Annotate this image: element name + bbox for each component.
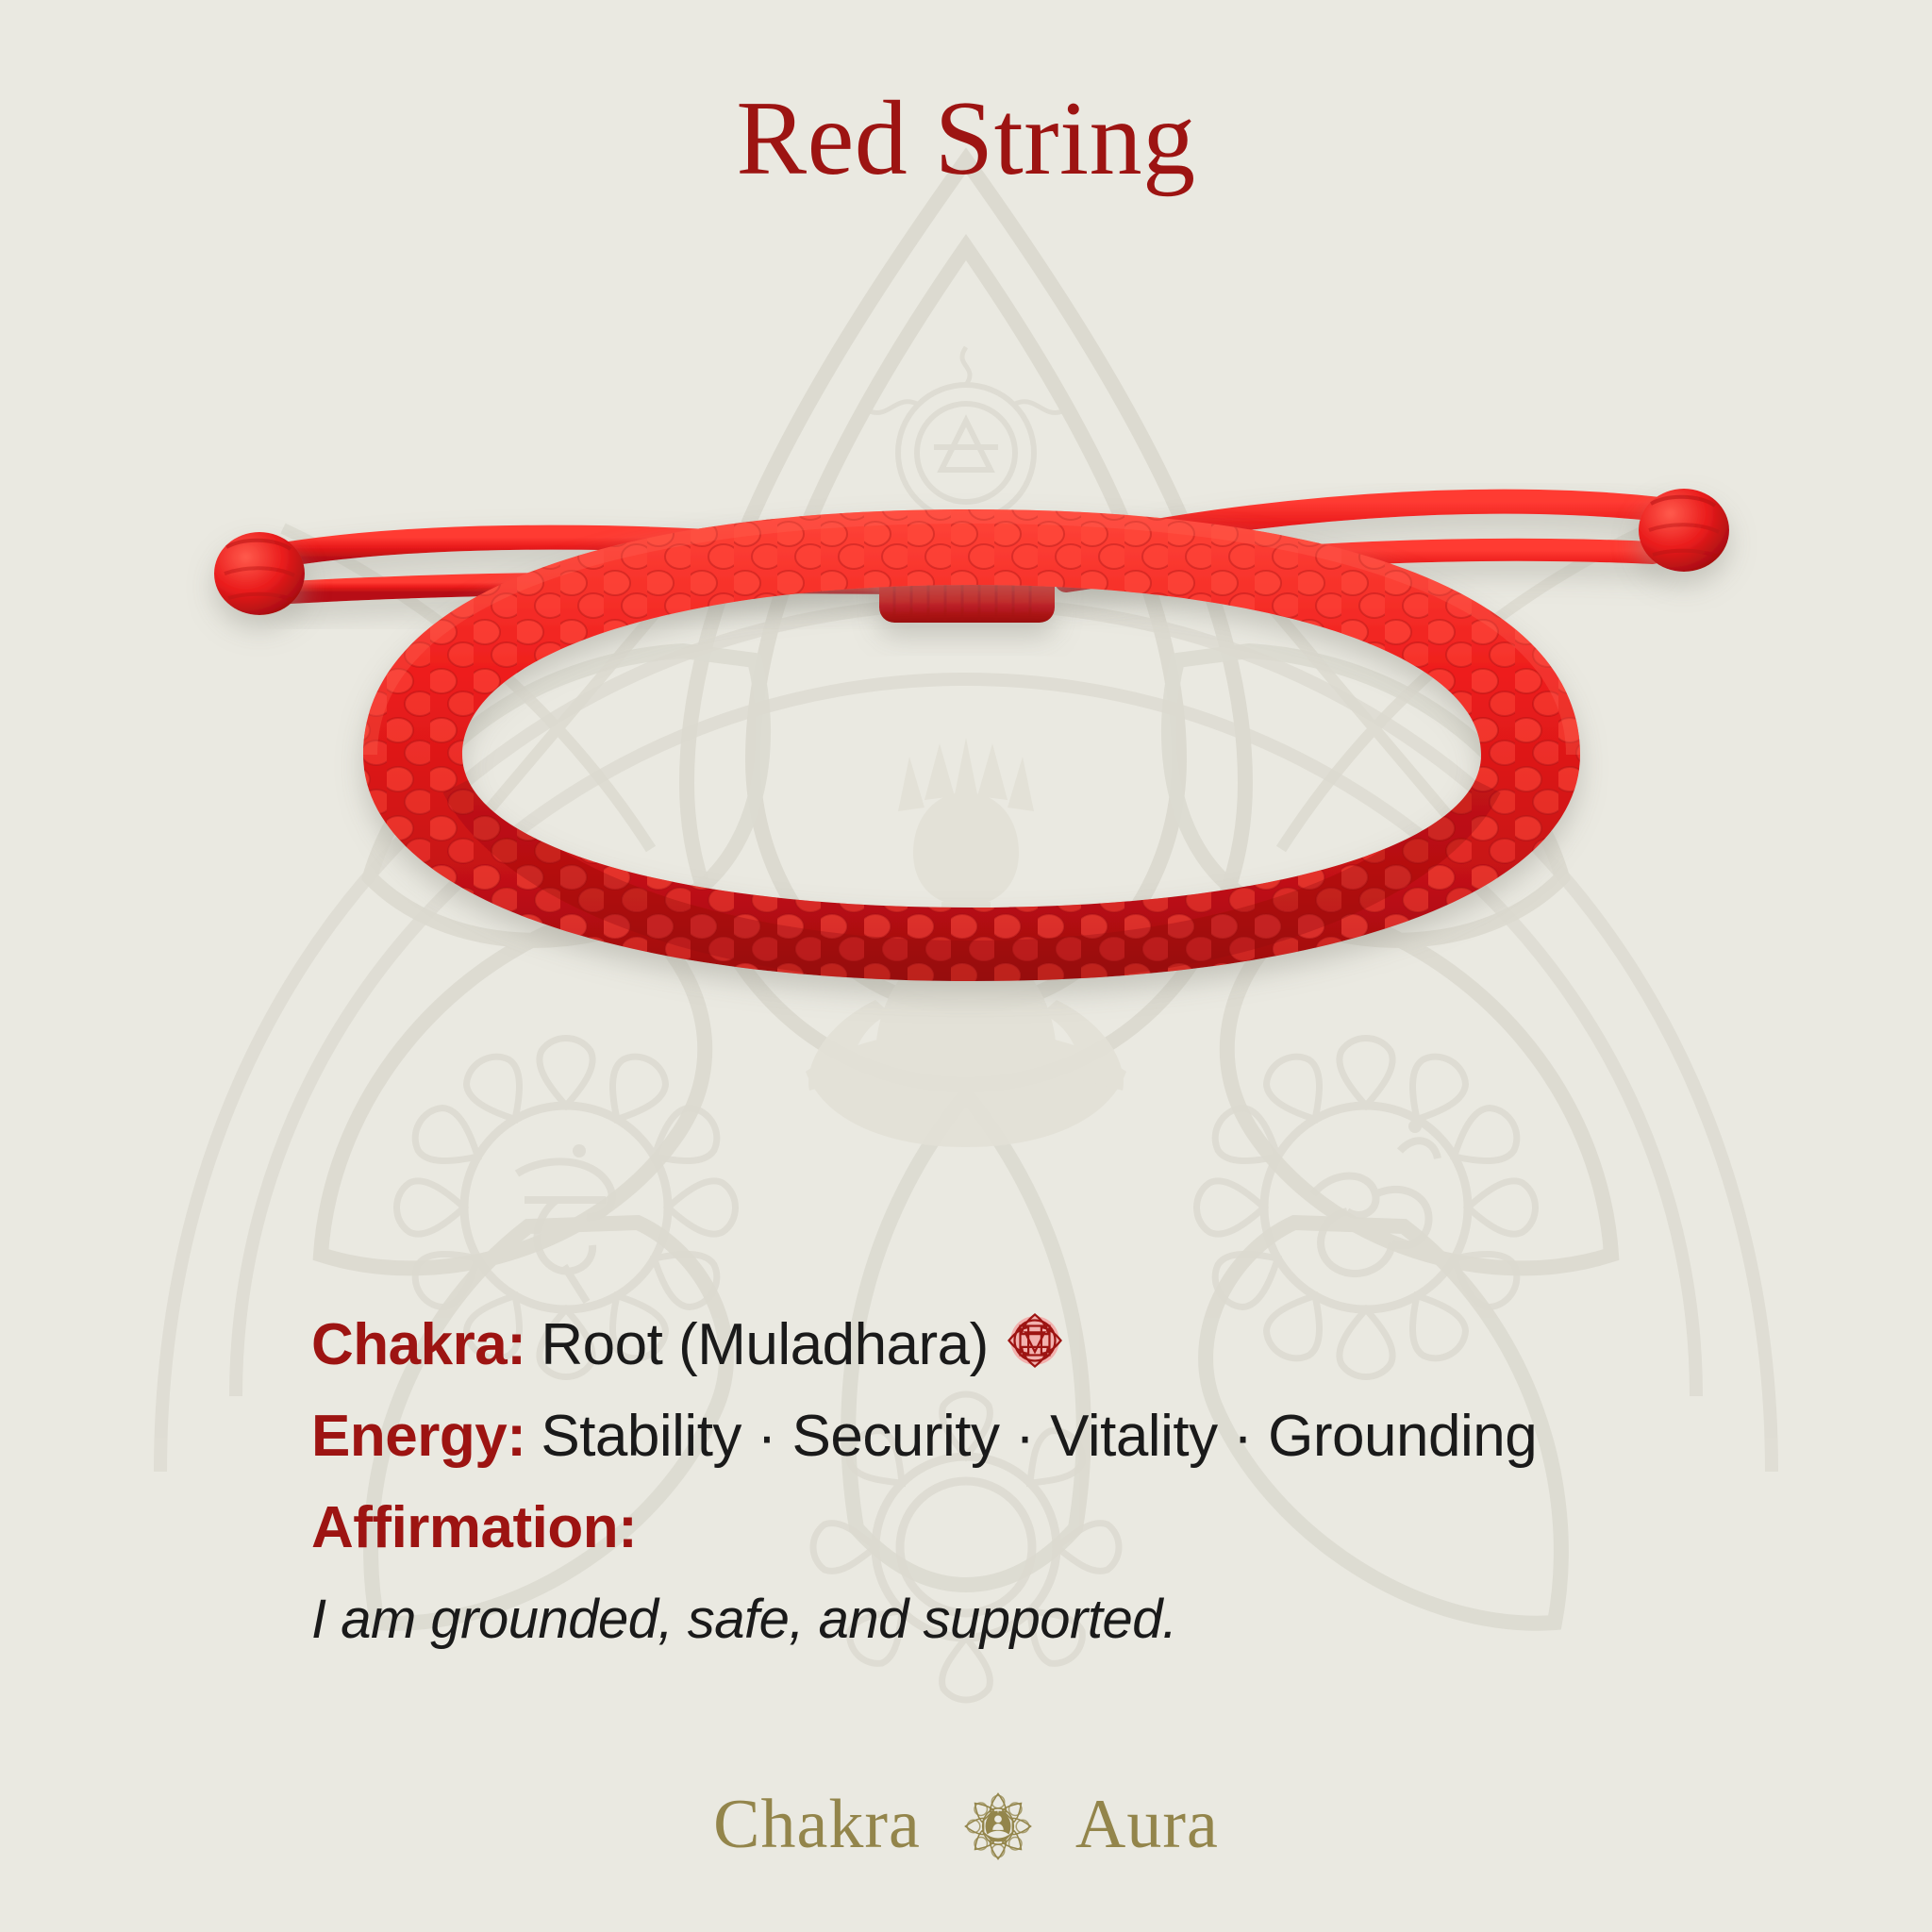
braided-band xyxy=(170,472,1774,1132)
affirmation-block: Affirmation: I am grounded, safe, and su… xyxy=(311,1494,1821,1651)
product-card: Red String xyxy=(0,0,1932,1932)
cord-end-knot-right xyxy=(1639,489,1729,572)
chakra-row: Chakra: Root (Muladhara) xyxy=(311,1283,1821,1378)
affirmation-text: I am grounded, safe, and supported. xyxy=(311,1588,1821,1651)
root-chakra-symbol xyxy=(994,1300,1075,1381)
lotus-meditation-mandala-icon xyxy=(953,1781,1043,1872)
brand-logo: Chakra xyxy=(0,1779,1932,1870)
page-title: Red String xyxy=(0,81,1932,197)
chakra-label: Chakra: xyxy=(311,1311,525,1378)
energy-value: Stability · Security · Vitality · Ground… xyxy=(541,1403,1537,1470)
energy-label: Energy: xyxy=(311,1403,525,1470)
brand-word-chakra: Chakra xyxy=(713,1785,921,1865)
product-details: Chakra: Root (Muladhara) xyxy=(311,1283,1821,1651)
brand-word-aura: Aura xyxy=(1075,1785,1219,1865)
energy-row: Energy: Stability · Security · Vitality … xyxy=(311,1403,1821,1470)
product-image-red-string-bracelet xyxy=(170,472,1774,1132)
chakra-value: Root (Muladhara) xyxy=(541,1311,988,1378)
affirmation-label: Affirmation: xyxy=(311,1494,1821,1561)
cord-end-knot-left xyxy=(214,532,305,615)
